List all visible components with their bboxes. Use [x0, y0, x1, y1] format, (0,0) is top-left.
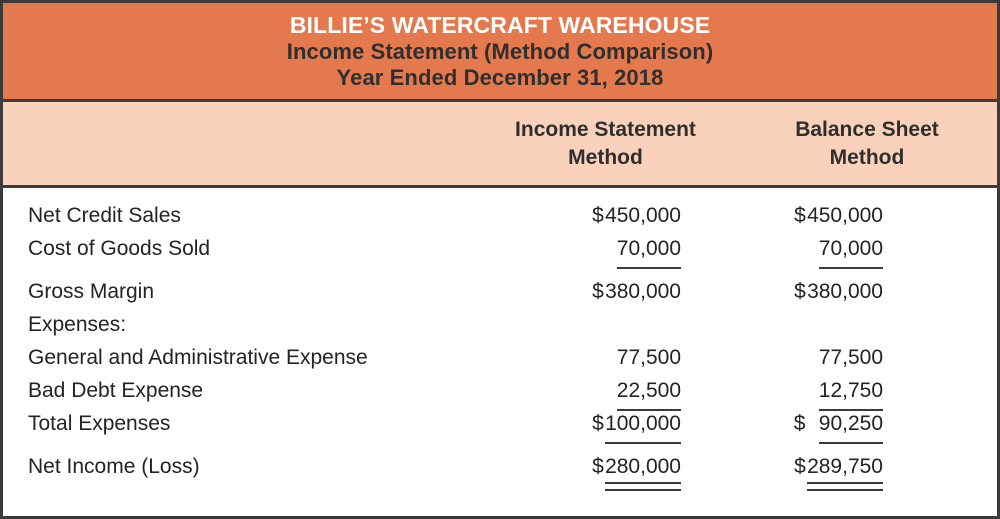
row-label: General and Administrative Expense: [3, 342, 473, 374]
column-header-row: Income Statement Method Balance Sheet Me…: [3, 102, 997, 188]
amount-digits: 380,000: [605, 276, 681, 308]
statement-subtitle: Income Statement (Method Comparison): [3, 39, 997, 65]
amount-digits: 280,000: [605, 451, 681, 483]
row-value-balance-sheet: 77,500: [681, 342, 943, 374]
currency-symbol: $: [592, 200, 605, 232]
table-row: Cost of Goods Sold 70,000 70,000: [3, 233, 997, 266]
row-value-balance-sheet: $450,000: [681, 200, 943, 232]
row-label: Cost of Goods Sold: [3, 233, 473, 265]
row-value-balance-sheet: $289,750: [681, 451, 943, 483]
table-row: Gross Margin $380,000 $380,000: [3, 276, 997, 309]
row-value-income-statement: 22,500: [473, 375, 681, 407]
row-value-income-statement: $280,000: [473, 451, 681, 483]
currency-symbol: $: [794, 200, 807, 232]
row-value-income-statement: 70,000: [473, 233, 681, 265]
table-row: Net Income (Loss) $280,000 $289,750: [3, 451, 997, 484]
amount-digits: 450,000: [807, 200, 883, 232]
amount-digits: 70,000: [819, 233, 883, 265]
amount: 77,500: [604, 342, 681, 374]
table-row: General and Administrative Expense 77,50…: [3, 342, 997, 375]
row-label: Total Expenses: [3, 408, 473, 440]
row-value-income-statement: $100,000: [473, 408, 681, 440]
column-header-line2: Method: [568, 144, 643, 172]
amount: $380,000: [794, 276, 883, 308]
amount: $90,250: [794, 408, 883, 440]
amount: $450,000: [794, 200, 883, 232]
row-value-income-statement: 77,500: [473, 342, 681, 374]
amount: $450,000: [592, 200, 681, 232]
amount: $280,000: [592, 451, 681, 483]
row-value-balance-sheet: 70,000: [681, 233, 943, 265]
row-value-income-statement: $450,000: [473, 200, 681, 232]
amount-digits: 289,750: [807, 451, 883, 483]
amount: 70,000: [604, 233, 681, 265]
currency-symbol: $: [794, 451, 807, 483]
row-value-balance-sheet: [681, 309, 943, 341]
amount-digits: 12,750: [819, 375, 883, 407]
amount: 12,750: [806, 375, 883, 407]
amount-digits: 450,000: [605, 200, 681, 232]
amount-digits: 22,500: [617, 375, 681, 407]
currency-symbol: $: [592, 451, 605, 483]
row-value-balance-sheet: $90,250: [681, 408, 943, 440]
amount-digits: 90,250: [819, 408, 883, 440]
amount: $380,000: [592, 276, 681, 308]
currency-symbol: $: [794, 276, 807, 308]
table-row: Total Expenses $100,000 $90,250: [3, 408, 997, 441]
row-label: Gross Margin: [3, 276, 473, 308]
currency-symbol: $: [794, 408, 819, 440]
amount: $289,750: [794, 451, 883, 483]
column-header-income-statement-method: Income Statement Method: [473, 102, 738, 185]
column-header-line2: Method: [830, 144, 905, 172]
amount: 70,000: [806, 233, 883, 265]
column-header-balance-sheet-method: Balance Sheet Method: [738, 102, 996, 185]
row-value-balance-sheet: 12,750: [681, 375, 943, 407]
amount-digits: 100,000: [605, 408, 681, 440]
amount-digits: 77,500: [617, 342, 681, 374]
column-header-line1: Balance Sheet: [795, 116, 939, 144]
statement-period: Year Ended December 31, 2018: [3, 65, 997, 91]
table-row: Expenses:: [3, 309, 997, 342]
company-name: BILLIE’S WATERCRAFT WAREHOUSE: [3, 12, 997, 39]
amount: 77,500: [806, 342, 883, 374]
row-value-income-statement: $380,000: [473, 276, 681, 308]
income-statement-table: BILLIE’S WATERCRAFT WAREHOUSE Income Sta…: [0, 0, 1000, 519]
row-value-income-statement: [473, 309, 681, 341]
amount: $100,000: [592, 408, 681, 440]
column-header-line1: Income Statement: [515, 116, 696, 144]
title-band: BILLIE’S WATERCRAFT WAREHOUSE Income Sta…: [3, 3, 997, 102]
amount: 22,500: [604, 375, 681, 407]
table-row: Bad Debt Expense 22,500 12,750: [3, 375, 997, 408]
row-label: Expenses:: [3, 309, 473, 341]
amount: [870, 309, 883, 341]
amount-digits: 77,500: [819, 342, 883, 374]
table-row: Net Credit Sales $450,000 $450,000: [3, 200, 997, 233]
currency-symbol: $: [592, 408, 605, 440]
amount: [668, 309, 681, 341]
amount-digits: 70,000: [617, 233, 681, 265]
amount-digits: 380,000: [807, 276, 883, 308]
statement-body: Net Credit Sales $450,000 $450,000 Cost …: [3, 188, 997, 484]
row-label: Net Credit Sales: [3, 200, 473, 232]
header-label-spacer: [3, 102, 473, 185]
row-label: Bad Debt Expense: [3, 375, 473, 407]
currency-symbol: $: [592, 276, 605, 308]
row-label: Net Income (Loss): [3, 451, 473, 483]
row-value-balance-sheet: $380,000: [681, 276, 943, 308]
